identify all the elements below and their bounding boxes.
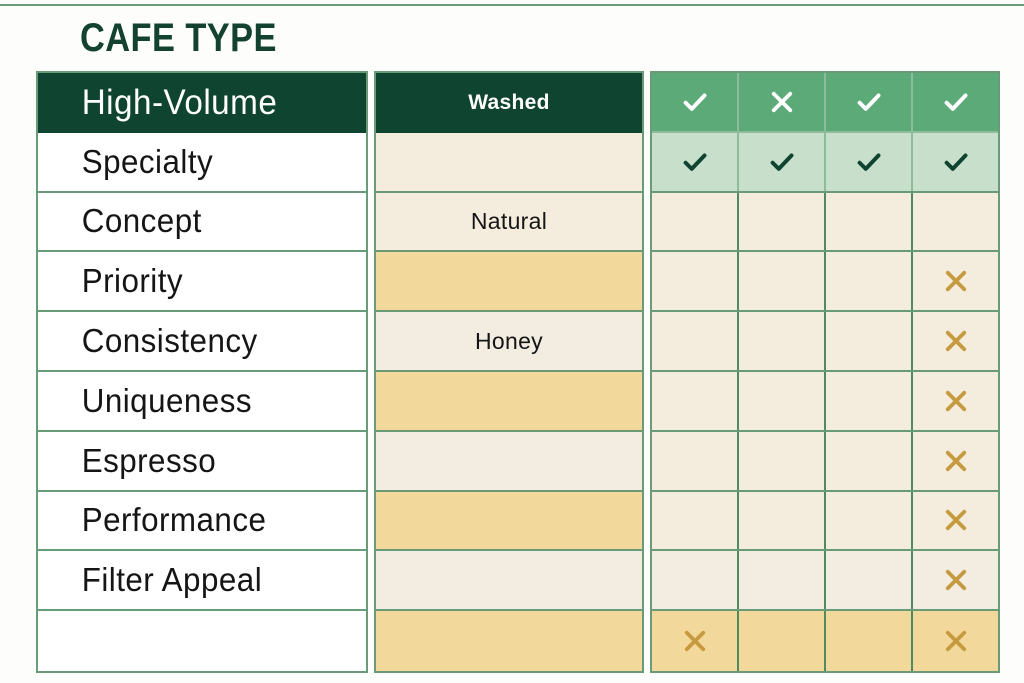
cafe-type-row <box>38 611 366 671</box>
empty-cell <box>739 193 826 251</box>
empty-cell <box>739 432 826 490</box>
cross-icon-cell <box>913 372 998 430</box>
empty-cell <box>826 193 913 251</box>
check-icon-cell <box>913 73 998 131</box>
marks-row <box>652 133 998 193</box>
top-divider-rule <box>0 4 1024 6</box>
process-header-row: Washed <box>376 73 642 133</box>
process-row <box>376 372 642 432</box>
empty-cell <box>739 372 826 430</box>
empty-cell <box>652 551 739 609</box>
empty-cell <box>652 252 739 310</box>
marks-row <box>652 312 998 372</box>
page-title: CAFE TYPE <box>80 16 277 60</box>
empty-cell <box>826 432 913 490</box>
cafe-type-row: Filter Appeal <box>38 551 366 611</box>
empty-cell <box>913 193 998 251</box>
comparison-table-page: CAFE TYPE High-VolumeSpecialtyConceptPri… <box>0 0 1024 683</box>
marks-row <box>652 492 998 552</box>
check-icon-cell <box>826 73 913 131</box>
empty-cell <box>826 252 913 310</box>
cross-icon-cell <box>913 432 998 490</box>
cafe-type-header-row: High-Volume <box>38 73 366 133</box>
process-row <box>376 492 642 552</box>
cross-icon <box>941 626 971 656</box>
cross-icon-cell <box>652 611 739 671</box>
cafe-type-label: Espresso <box>38 443 216 479</box>
process-row <box>376 611 642 671</box>
empty-cell <box>739 611 826 671</box>
cafe-type-row: Concept <box>38 193 366 253</box>
cafe-type-label: Specialty <box>38 144 213 180</box>
cafe-type-row: Consistency <box>38 312 366 372</box>
check-icon-cell <box>913 133 998 191</box>
check-icon <box>941 147 971 177</box>
process-row: Natural <box>376 193 642 253</box>
cross-icon-cell <box>739 73 826 131</box>
cafe-type-label: Priority <box>38 263 183 299</box>
processing-method-column: WashedNaturalHoney <box>374 71 644 673</box>
cafe-type-row: Uniqueness <box>38 372 366 432</box>
cross-icon <box>941 446 971 476</box>
suitability-marks-grid <box>650 71 1000 673</box>
empty-cell <box>739 312 826 370</box>
check-icon <box>767 147 797 177</box>
check-icon <box>854 147 884 177</box>
cafe-type-label-column: High-VolumeSpecialtyConceptPriorityConsi… <box>36 71 368 673</box>
cross-icon-cell <box>913 312 998 370</box>
cross-icon <box>941 505 971 535</box>
check-icon-cell <box>652 73 739 131</box>
cross-icon <box>941 565 971 595</box>
process-label: Natural <box>471 208 547 234</box>
empty-cell <box>652 492 739 550</box>
check-icon <box>941 87 971 117</box>
empty-cell <box>652 312 739 370</box>
cafe-type-row: Priority <box>38 252 366 312</box>
empty-cell <box>739 252 826 310</box>
marks-row <box>652 372 998 432</box>
marks-row <box>652 252 998 312</box>
cafe-type-label: Uniqueness <box>38 383 252 419</box>
check-icon-cell <box>652 133 739 191</box>
empty-cell <box>739 551 826 609</box>
empty-cell <box>652 432 739 490</box>
empty-cell <box>826 312 913 370</box>
check-icon <box>854 87 884 117</box>
process-label: Honey <box>475 328 543 354</box>
cafe-type-label: Consistency <box>38 323 258 359</box>
empty-cell <box>652 372 739 430</box>
empty-cell <box>826 372 913 430</box>
marks-row <box>652 193 998 253</box>
marks-header-row <box>652 73 998 133</box>
cafe-type-label: Performance <box>38 502 266 538</box>
cross-icon <box>941 266 971 296</box>
marks-row <box>652 551 998 611</box>
cafe-type-row: Performance <box>38 492 366 552</box>
empty-cell <box>826 551 913 609</box>
cafe-type-label: Concept <box>38 203 202 239</box>
check-icon-cell <box>739 133 826 191</box>
cafe-type-label: High-Volume <box>38 85 277 121</box>
empty-cell <box>739 492 826 550</box>
marks-row <box>652 611 998 671</box>
cross-icon-cell <box>913 611 998 671</box>
cross-icon <box>941 326 971 356</box>
marks-row <box>652 432 998 492</box>
process-row: Honey <box>376 312 642 372</box>
check-icon <box>680 87 710 117</box>
process-row <box>376 551 642 611</box>
cafe-type-label: Filter Appeal <box>38 562 262 598</box>
process-row <box>376 133 642 193</box>
empty-cell <box>826 611 913 671</box>
cafe-type-row: Espresso <box>38 432 366 492</box>
process-label: Washed <box>468 90 550 116</box>
cross-icon <box>680 626 710 656</box>
empty-cell <box>652 193 739 251</box>
check-icon <box>680 147 710 177</box>
cross-icon <box>767 87 797 117</box>
cross-icon-cell <box>913 551 998 609</box>
cross-icon-cell <box>913 252 998 310</box>
cross-icon-cell <box>913 492 998 550</box>
check-icon-cell <box>826 133 913 191</box>
empty-cell <box>826 492 913 550</box>
process-row <box>376 432 642 492</box>
cafe-type-row: Specialty <box>38 133 366 193</box>
process-row <box>376 252 642 312</box>
cross-icon <box>941 386 971 416</box>
